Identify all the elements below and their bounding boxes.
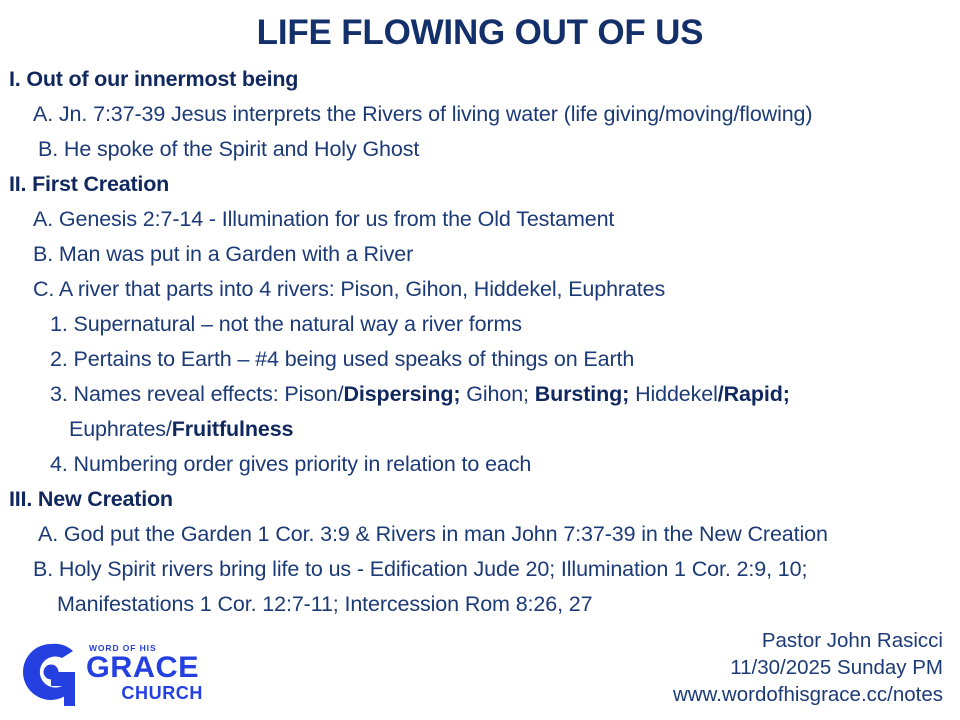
outline-item: 4. Numbering order gives priority in rel… xyxy=(0,447,960,482)
outline-text: Hiddekel xyxy=(629,382,718,406)
outline-item: A. Jn. 7:37-39 Jesus interprets the Rive… xyxy=(0,97,960,132)
outline-item: C. A river that parts into 4 rivers: Pis… xyxy=(0,272,960,307)
slide-canvas: LIFE FLOWING OUT OF US I. Out of our inn… xyxy=(0,0,960,720)
page-title: LIFE FLOWING OUT OF US xyxy=(0,14,960,53)
outline-item: Euphrates/Fruitfulness xyxy=(0,412,960,447)
outline-emphasis: Bursting; xyxy=(535,382,629,406)
credit-block: Pastor John Rasicci 11/30/2025 Sunday PM… xyxy=(673,627,943,708)
outline-emphasis: /Rapid; xyxy=(718,382,790,406)
outline-item: B. Holy Spirit rivers bring life to us -… xyxy=(0,552,960,587)
outline-item: 3. Names reveal effects: Pison/Dispersin… xyxy=(0,377,960,412)
grace-g-monogram-icon xyxy=(20,642,82,708)
logo-name: GRACE xyxy=(86,652,199,684)
outline-item: B. He spoke of the Spirit and Holy Ghost xyxy=(0,132,960,167)
outline-heading: I. Out of our innermost being xyxy=(0,62,960,97)
outline-item: 2. Pertains to Earth – #4 being used spe… xyxy=(0,342,960,377)
credit-date-service: 11/30/2025 Sunday PM xyxy=(673,654,943,681)
logo-wordmark: WORD OF HIS GRACE CHURCH xyxy=(86,643,204,705)
church-logo: WORD OF HIS GRACE CHURCH xyxy=(20,639,205,711)
outline-item: 1. Supernatural – not the natural way a … xyxy=(0,307,960,342)
outline-text: Gihon; xyxy=(460,382,534,406)
outline-item: A. Genesis 2:7-14 - Illumination for us … xyxy=(0,202,960,237)
outline-text: Euphrates/ xyxy=(69,417,172,441)
outline-emphasis: Fruitfulness xyxy=(172,417,294,441)
credit-speaker: Pastor John Rasicci xyxy=(673,627,943,654)
outline-text: 3. Names reveal effects: Pison/ xyxy=(50,382,343,406)
logo-kind: CHURCH xyxy=(121,683,203,703)
outline-heading: II. First Creation xyxy=(0,167,960,202)
outline-body: I. Out of our innermost beingA. Jn. 7:37… xyxy=(0,62,960,622)
credit-website: www.wordofhisgrace.cc/notes xyxy=(673,681,943,708)
outline-emphasis: Dispersing; xyxy=(343,382,460,406)
outline-item: B. Man was put in a Garden with a River xyxy=(0,237,960,272)
outline-heading: III. New Creation xyxy=(0,482,960,517)
outline-item: Manifestations 1 Cor. 12:7-11; Intercess… xyxy=(0,587,960,622)
outline-item: A. God put the Garden 1 Cor. 3:9 & River… xyxy=(0,517,960,552)
